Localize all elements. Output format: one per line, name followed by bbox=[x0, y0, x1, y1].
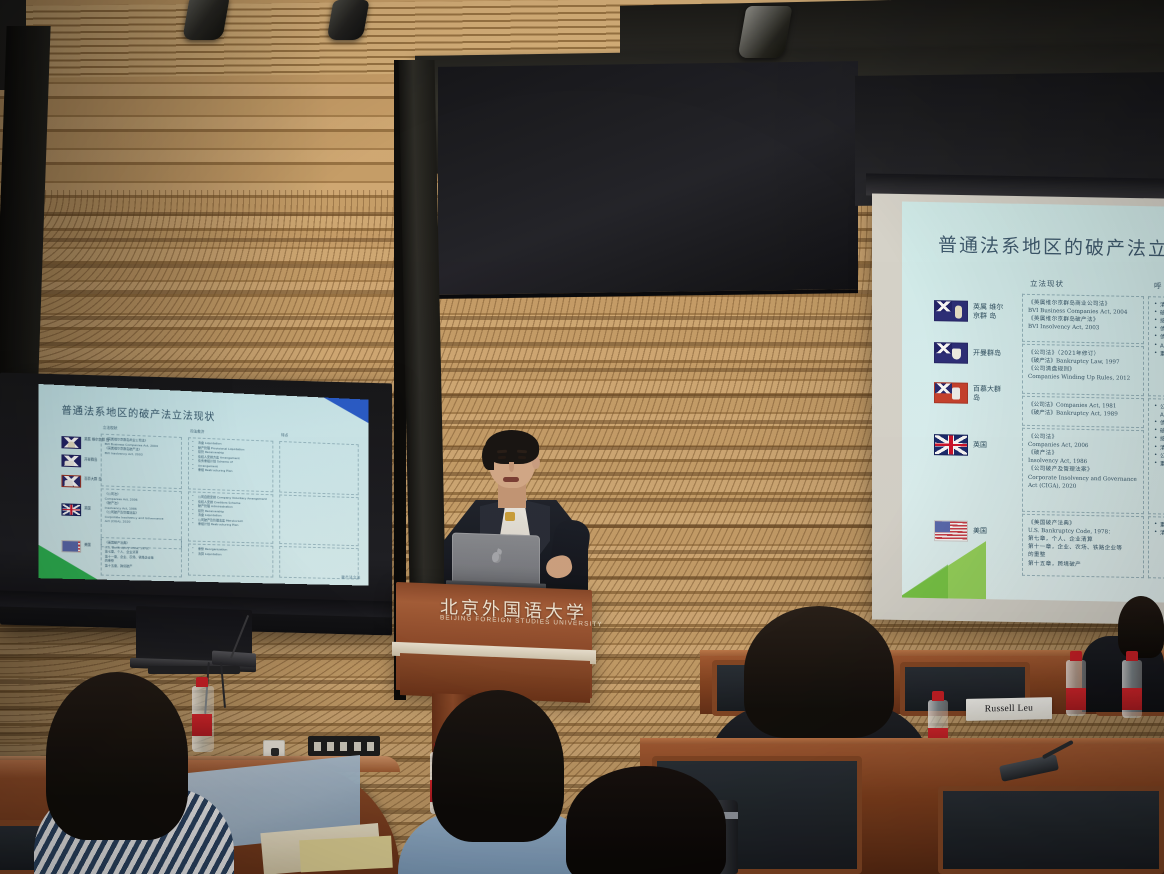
jurisdiction-row-cayman: 开曼群岛 bbox=[934, 342, 1007, 364]
slide-column-header-legislation: 立法现状 bbox=[1030, 278, 1064, 290]
water-bottle bbox=[1066, 660, 1086, 716]
speaker-mouth bbox=[503, 477, 519, 482]
bermuda-flag-icon bbox=[61, 475, 81, 488]
name-plate-text: Russell Leu bbox=[985, 703, 1033, 714]
chair-back bbox=[938, 786, 1164, 874]
jurisdiction-row-bermuda: 百慕大群 岛 bbox=[934, 382, 1007, 404]
water-bottle bbox=[192, 686, 214, 752]
cayman-flag-icon bbox=[934, 342, 968, 364]
panelist-head bbox=[1118, 596, 1164, 658]
attendee-head bbox=[566, 766, 726, 874]
jurisdiction-label: 开曼群岛 bbox=[84, 458, 97, 462]
remedy-cell: 清盘 Liquidation破产管理 Provisional Liquidati… bbox=[1148, 296, 1164, 398]
tv-stand-base bbox=[148, 666, 240, 674]
uk-flag-icon bbox=[61, 503, 81, 516]
wall-switch-panel[interactable] bbox=[308, 736, 380, 756]
tv-column-header-2: 司法救济 bbox=[190, 429, 204, 435]
attendee-head bbox=[46, 672, 188, 840]
legislation-cell: 《美国破产法典》U.S. Bankruptcy Code, 1978：第七章，个… bbox=[1022, 514, 1144, 578]
speaker-hair bbox=[485, 430, 539, 464]
bvi-flag-icon bbox=[61, 436, 81, 449]
projected-slide: 普通法系地区的破产法立法现状 立法现状 呼 英属 维尔京群 岛 开曼群岛 百慕大… bbox=[902, 201, 1164, 602]
tv-slide-page-label: 破产法立法 bbox=[341, 575, 360, 580]
usa-flag-icon bbox=[934, 520, 968, 542]
jurisdiction-label: 百慕大群 岛 bbox=[973, 385, 1007, 402]
bvi-flag-icon bbox=[934, 300, 968, 322]
tv-remedy-cell: 重整 Reorganization清算 Liquidation bbox=[188, 543, 273, 577]
jurisdiction-label: 美国 bbox=[973, 527, 1007, 536]
tv-feature-cell bbox=[279, 441, 359, 495]
tv-remedy-cell: 公司自愿安排 Company Voluntary Arrangement债权人安… bbox=[188, 491, 273, 543]
switch-toggle[interactable] bbox=[340, 742, 347, 751]
jurisdiction-label: 美国 bbox=[84, 544, 91, 548]
tv-remedy-cell: 清盘 Liquidation破产管理 Provisional Liquidati… bbox=[188, 437, 273, 492]
tv-slide-title: 普通法系地区的破产法立法现状 bbox=[61, 401, 215, 423]
cayman-flag-icon bbox=[61, 454, 81, 467]
switch-toggle[interactable] bbox=[327, 742, 334, 751]
bermuda-flag-icon bbox=[934, 382, 968, 404]
legislation-cell: 《公司法》（2021年修订）《破产法》Bankruptcy Law, 1997《… bbox=[1022, 344, 1144, 396]
jurisdiction-label: 英属 维尔京群 岛 bbox=[973, 303, 1007, 320]
speaker-nose bbox=[509, 462, 514, 472]
tv-column-header-3: 特点 bbox=[281, 433, 288, 438]
legislation-cell: 《英属维尔京群岛商业公司法》BVI Business Companies Act… bbox=[1022, 294, 1144, 344]
track-light-icon bbox=[737, 6, 792, 58]
uk-flag-icon bbox=[934, 434, 968, 456]
slide-decoration-triangle-inner bbox=[902, 563, 948, 602]
attendee-head bbox=[432, 690, 564, 842]
speaker-badge bbox=[505, 512, 515, 521]
conference-room-photo: 普通法系地区的破产法立法现状 立法现状 呼 英属 维尔京群 岛 开曼群岛 百慕大… bbox=[0, 0, 1164, 874]
legislation-cell: 《公司法》Companies Act, 2006《破产法》Insolvency … bbox=[1022, 428, 1144, 514]
apple-logo-icon bbox=[492, 552, 501, 563]
attendee-head bbox=[744, 606, 894, 738]
legislation-cell: 《公司法》Companies Act, 1981《破产法》Bankruptcy … bbox=[1022, 396, 1144, 428]
slide-column-header-remedies: 呼 bbox=[1154, 280, 1163, 291]
tv-screen-content: 普通法系地区的破产法立法现状 立法现状 司法救济 特点 英属 维尔京群 岛 开曼… bbox=[39, 384, 369, 586]
remedy-cell: 公司自愿安排 Company Voluntary Arrangement债权人安… bbox=[1148, 398, 1164, 516]
paper-document bbox=[299, 836, 393, 873]
tv-legislation-cell: 《美国破产法典》U.S. Bankruptcy Code, 1978：第七章，个… bbox=[101, 537, 182, 577]
speaker-eye-right bbox=[518, 456, 526, 459]
tv-column-header-1: 立法现状 bbox=[103, 426, 118, 432]
slide-title: 普通法系地区的破产法立法现状 bbox=[938, 230, 1164, 263]
switch-toggle[interactable] bbox=[367, 742, 374, 751]
jurisdiction-row-bvi: 英属 维尔京群 岛 bbox=[934, 300, 1007, 322]
jurisdiction-label: 开曼群岛 bbox=[973, 349, 1007, 358]
jurisdiction-label: 百慕大群 岛 bbox=[84, 478, 101, 483]
jurisdiction-row-uk: 英国 bbox=[934, 434, 1007, 456]
water-bottle bbox=[1122, 660, 1142, 718]
switch-toggle[interactable] bbox=[354, 742, 361, 751]
wall-recess-panel bbox=[438, 61, 858, 299]
speaker-eye-left bbox=[498, 456, 506, 459]
tv-feature-cell bbox=[279, 494, 359, 546]
tv-legislation-cell: 《英属维尔京群岛商业公司法》BVI Business Companies Act… bbox=[101, 434, 182, 490]
name-plate: Russell Leu bbox=[966, 697, 1052, 721]
jurisdiction-row-usa: 美国 bbox=[934, 520, 1007, 542]
switch-toggle[interactable] bbox=[314, 742, 321, 751]
jurisdiction-label: 英国 bbox=[973, 441, 1007, 450]
jurisdiction-label: 英国 bbox=[84, 507, 91, 511]
remedy-cell: 重整 Reorganization清算 Liquidation bbox=[1148, 516, 1164, 580]
usa-flag-icon bbox=[61, 540, 81, 553]
